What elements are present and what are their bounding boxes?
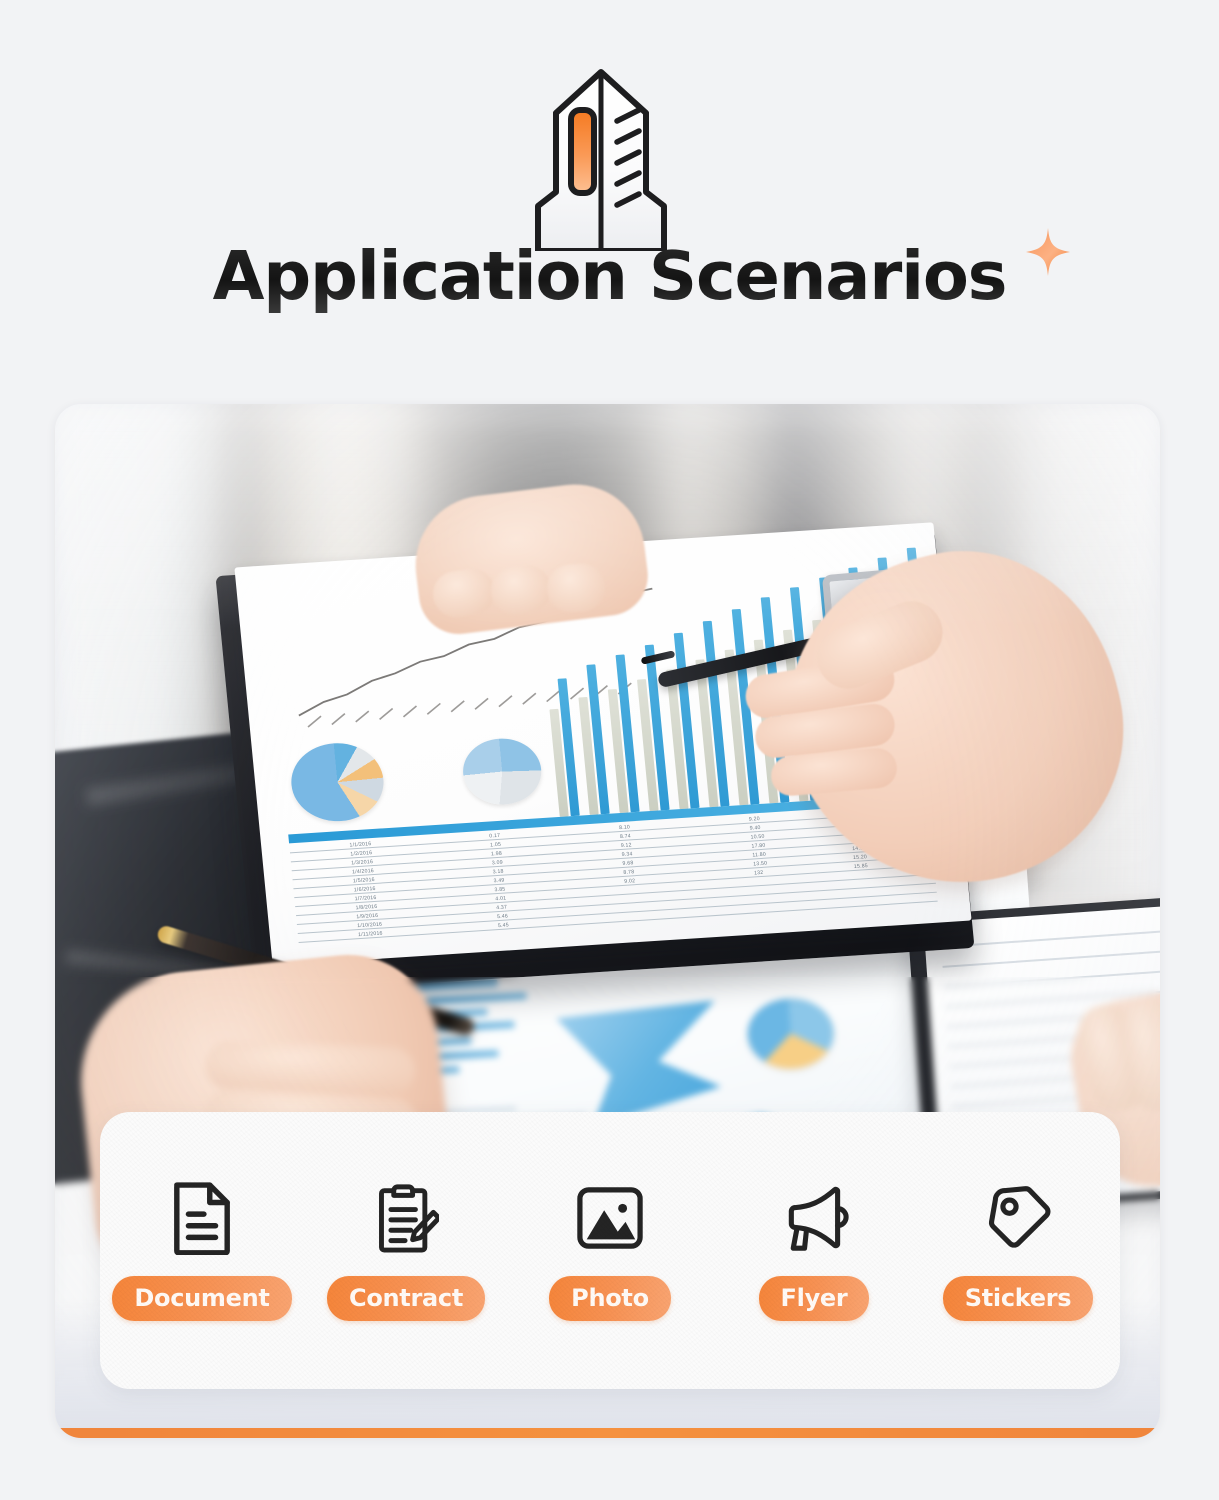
scenario-category-card: Document Contract [100,1112,1120,1389]
photo-finger [204,1040,416,1095]
scenario-label-stickers[interactable]: Stickers [943,1276,1094,1321]
image-icon [575,1174,645,1262]
accent-bottom-bar [55,1428,1160,1438]
document-icon [171,1174,233,1262]
scenario-label-contract[interactable]: Contract [327,1276,485,1321]
price-tag-icon [984,1174,1052,1262]
clipboard-pen-icon [373,1174,439,1262]
building-tower-icon [496,66,706,251]
scenario-item-stickers[interactable]: Stickers [928,1174,1108,1321]
page-title: Application Scenarios [213,238,1007,314]
scenario-category-list: Document Contract [100,1174,1120,1321]
scenario-label-document[interactable]: Document [112,1276,291,1321]
photo-report-pie-chart [288,740,387,824]
scenario-label-flyer[interactable]: Flyer [759,1276,870,1321]
scenario-item-flyer[interactable]: Flyer [724,1174,904,1321]
megaphone-icon [776,1174,852,1262]
scenario-item-photo[interactable]: Photo [520,1174,700,1321]
scenario-item-document[interactable]: Document [112,1174,292,1321]
scenario-label-photo[interactable]: Photo [549,1276,671,1321]
sparkle-star-icon [1026,228,1070,276]
page-header: Application Scenarios [0,0,1219,380]
photo-desk-report-pie [745,996,836,1070]
scenario-item-contract[interactable]: Contract [316,1174,496,1321]
page-root: Application Scenarios [0,0,1219,1500]
photo-report-pie-chart [460,736,544,807]
